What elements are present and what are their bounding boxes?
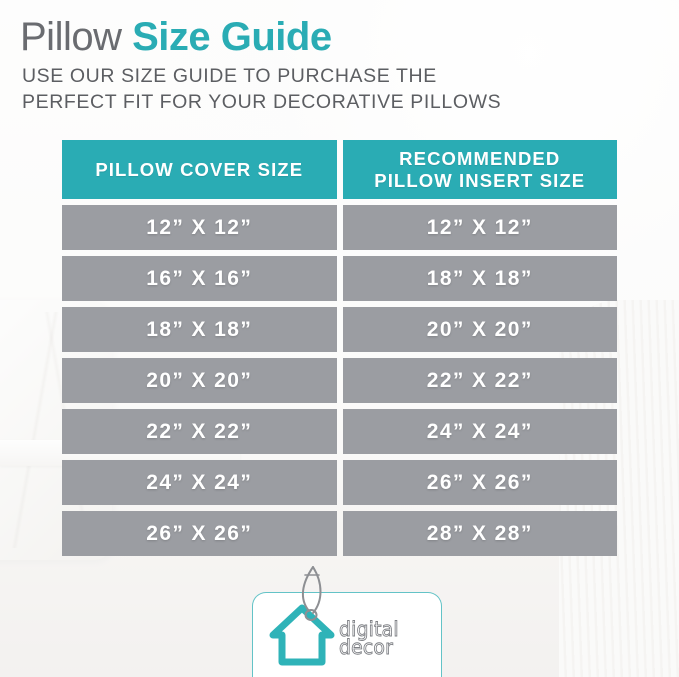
cell-insert-size: 24” X 24” — [343, 409, 618, 454]
page-title: Pillow Size Guide — [20, 14, 332, 60]
table-row: 16” X 16” 18” X 18” — [62, 256, 617, 301]
table-row: 22” X 22” 24” X 24” — [62, 409, 617, 454]
cell-cover-size: 12” X 12” — [62, 205, 337, 250]
column-header-pillow-cover-size: PILLOW COVER SIZE — [62, 140, 337, 199]
cell-cover-size: 24” X 24” — [62, 460, 337, 505]
brand-logo-card: digital decor — [252, 592, 442, 677]
cell-insert-size: 18” X 18” — [343, 256, 618, 301]
cell-insert-size: 26” X 26” — [343, 460, 618, 505]
size-guide-table: PILLOW COVER SIZE RECOMMENDED PILLOW INS… — [62, 140, 617, 562]
cell-cover-size: 22” X 22” — [62, 409, 337, 454]
title-block: Pillow Size Guide — [20, 14, 332, 60]
table-row: 18” X 18” 20” X 20” — [62, 307, 617, 352]
cell-insert-size: 12” X 12” — [343, 205, 618, 250]
cell-cover-size: 18” X 18” — [62, 307, 337, 352]
cell-insert-size: 22” X 22” — [343, 358, 618, 403]
table-row: 24” X 24” 26” X 26” — [62, 460, 617, 505]
cell-cover-size: 26” X 26” — [62, 511, 337, 556]
table-row: 12” X 12” 12” X 12” — [62, 205, 617, 250]
table-row: 26” X 26” 28” X 28” — [62, 511, 617, 556]
table-row: 20” X 20” 22” X 22” — [62, 358, 617, 403]
cell-insert-size: 20” X 20” — [343, 307, 618, 352]
logo-inner: digital decor — [253, 593, 441, 677]
page-title-accent: Size Guide — [132, 15, 332, 59]
column-header-recommended-pillow-insert-size: RECOMMENDED PILLOW INSERT SIZE — [343, 140, 618, 199]
cell-cover-size: 16” X 16” — [62, 256, 337, 301]
house-icon — [269, 604, 335, 666]
page-content: Pillow Size Guide USE OUR SIZE GUIDE TO … — [0, 0, 679, 677]
page-subtitle: USE OUR SIZE GUIDE TO PURCHASE THE PERFE… — [22, 63, 501, 115]
page-title-light: Pillow — [20, 15, 132, 59]
cell-insert-size: 28” X 28” — [343, 511, 618, 556]
table-header-row: PILLOW COVER SIZE RECOMMENDED PILLOW INS… — [62, 140, 617, 199]
cell-cover-size: 20” X 20” — [62, 358, 337, 403]
logo-wordmark: digital decor — [339, 620, 399, 656]
